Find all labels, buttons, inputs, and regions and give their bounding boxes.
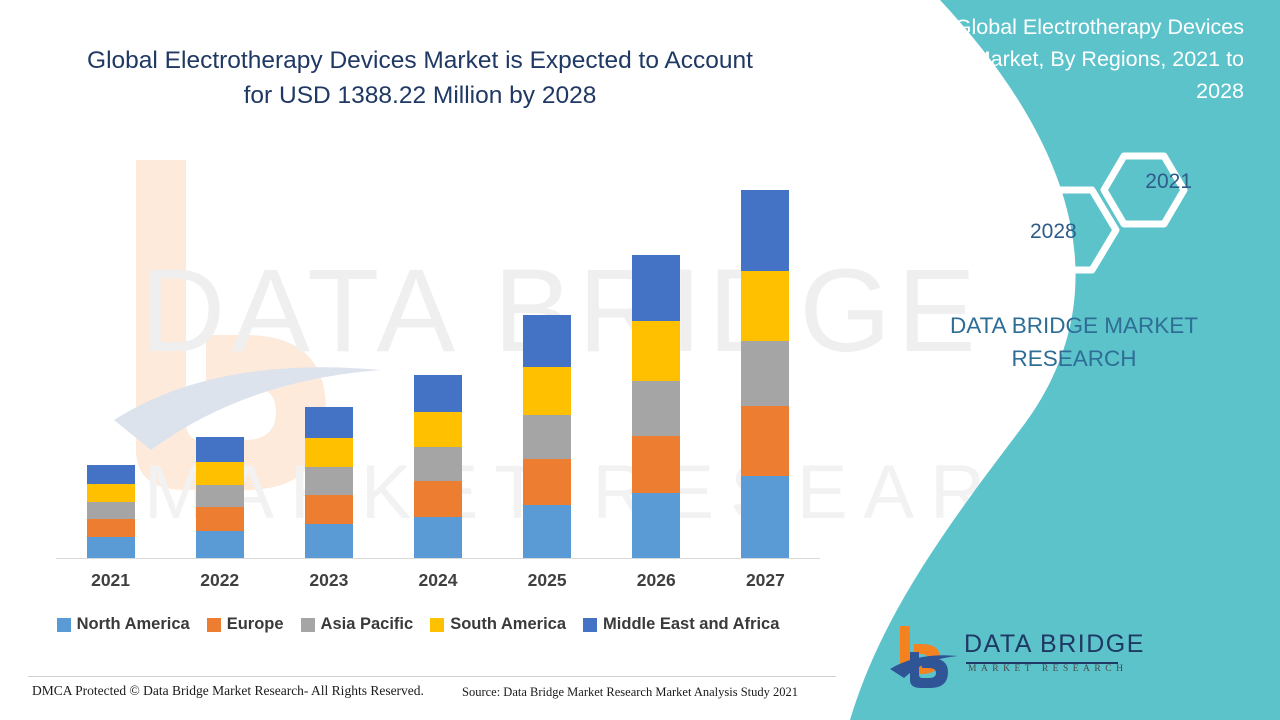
legend-color-swatch [583,618,597,632]
data-bridge-logo-icon [888,622,960,690]
stacked-bar [414,375,462,558]
x-axis-tick-label: 2022 [165,570,274,591]
bar-segment [305,438,353,467]
legend-color-swatch [430,618,444,632]
legend-item-label: Middle East and Africa [603,615,779,634]
bar-segment [523,505,571,558]
bar-segment [632,493,680,558]
stacked-bar [305,407,353,558]
hexagon-outlines-icon [1000,142,1200,287]
bar-segment [196,485,244,507]
chart-plot-area [56,150,820,558]
x-axis-tick-label: 2026 [602,570,711,591]
infographic-canvas: DATA BRIDGE MARKET RESEARCH Global Elect… [0,0,1280,720]
copyright-notice: DMCA Protected © Data Bridge Market Rese… [32,683,424,699]
bar-segment [414,517,462,558]
x-axis-tick-label: 2023 [274,570,383,591]
legend-item-label: Europe [227,615,284,634]
bar-segment [414,447,462,481]
x-axis-tick-label: 2021 [56,570,165,591]
legend-color-swatch [207,618,221,632]
year-hexagon-badges: 2021 2028 [1000,142,1200,287]
legend-item-label: North America [77,615,190,634]
panel-title-line-2: Market, By Regions, 2021 to [904,44,1244,76]
stacked-bar [196,437,244,558]
legend-color-swatch [57,618,71,632]
headline-line-2: for USD 1388.22 Million by 2028 [40,79,800,114]
bar-segment [87,484,135,502]
stacked-bar [87,465,135,558]
bar-segment [741,406,789,476]
legend-item-label: Asia Pacific [321,615,414,634]
logo-wordmark: DATA BRIDGE [964,630,1145,659]
bar-segment [632,255,680,321]
bar-segment [414,481,462,517]
legend-item[interactable]: Asia Pacific [301,615,414,634]
page-title: Global Electrotherapy Devices Market is … [40,44,800,114]
bar-column [602,150,711,558]
bar-column [56,150,165,558]
stacked-bar [741,190,789,558]
bar-segment [523,415,571,459]
brand-line-2: RESEARCH [904,343,1244,376]
logo-subtitle: MARKET RESEARCH [968,664,1127,674]
bar-segment [632,321,680,381]
bar-segment [87,465,135,484]
legend-item-label: South America [450,615,566,634]
panel-title-line-1: Global Electrotherapy Devices [904,12,1244,44]
chart-legend: North AmericaEuropeAsia PacificSouth Ame… [0,615,836,634]
bar-segment [305,467,353,495]
bar-segment [741,271,789,341]
bar-segment [87,502,135,519]
bar-segment [87,519,135,537]
source-note: Source: Data Bridge Market Research Mark… [462,685,798,700]
bar-segment [196,462,244,485]
x-axis-tick-label: 2025 [493,570,602,591]
company-logo: DATA BRIDGE MARKET RESEARCH [888,622,1128,694]
footer-divider [28,676,836,677]
stacked-bar [523,315,571,558]
bar-segment [414,375,462,412]
bar-segment [523,459,571,505]
x-axis-tick-label: 2027 [711,570,820,591]
stacked-bar-chart: 2021202220232024202520262027 [0,150,830,560]
bar-segment [523,367,571,415]
headline-line-1: Global Electrotherapy Devices Market is … [40,44,800,79]
bar-segment [741,476,789,558]
brand-panel: Global Electrotherapy Devices Market, By… [820,0,1280,720]
stacked-bar [632,255,680,558]
bar-segment [632,436,680,493]
hex-year-end: 2028 [1030,220,1077,244]
bar-segment [196,507,244,531]
bar-column [711,150,820,558]
bar-segment [741,341,789,406]
bar-segment [414,412,462,447]
legend-item[interactable]: Europe [207,615,284,634]
brand-line-1: DATA BRIDGE MARKET [904,310,1244,343]
bar-segment [305,524,353,558]
bar-column [383,150,492,558]
x-axis-labels: 2021202220232024202520262027 [56,570,820,591]
bar-segment [196,437,244,462]
bar-segment [523,315,571,367]
hex-year-start: 2021 [1145,170,1192,194]
x-axis-tick-label: 2024 [383,570,492,591]
bar-segment [87,537,135,558]
bar-column [493,150,602,558]
bar-segment [741,190,789,271]
bar-segment [632,381,680,436]
legend-item[interactable]: North America [57,615,190,634]
brand-name: DATA BRIDGE MARKET RESEARCH [904,310,1244,375]
panel-title-line-3: 2028 [904,76,1244,108]
legend-item[interactable]: South America [430,615,566,634]
legend-color-swatch [301,618,315,632]
panel-title: Global Electrotherapy Devices Market, By… [904,12,1244,107]
bar-column [165,150,274,558]
bar-segment [196,531,244,558]
bar-column [274,150,383,558]
legend-item[interactable]: Middle East and Africa [583,615,779,634]
x-axis-line [56,558,820,559]
bar-segment [305,495,353,524]
bar-segment [305,407,353,438]
